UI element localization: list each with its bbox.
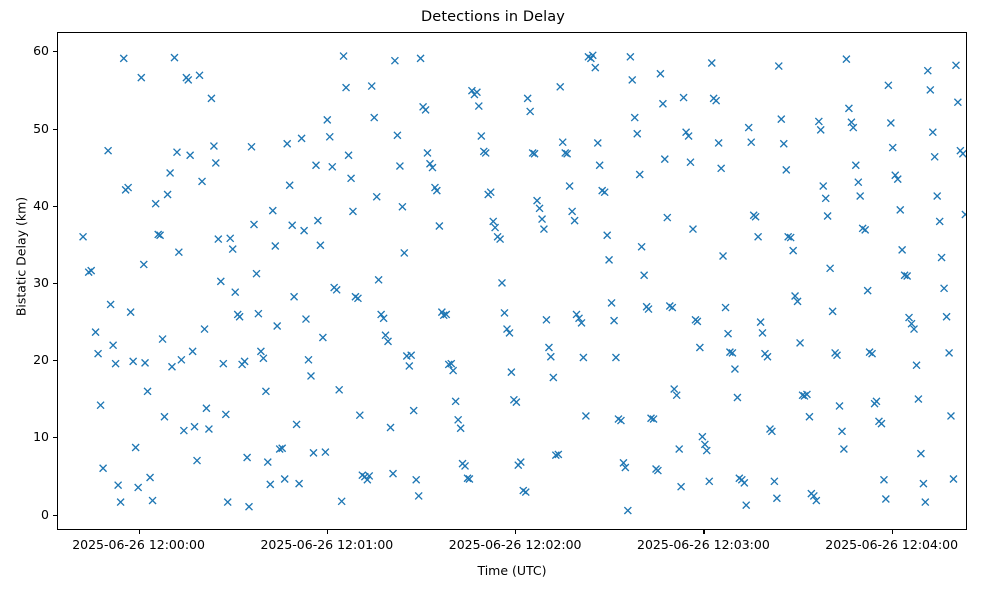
scatter-point — [274, 323, 281, 330]
scatter-point — [608, 299, 615, 306]
y-tick-mark — [53, 437, 57, 438]
scatter-point — [187, 152, 194, 159]
scatter-point — [606, 256, 613, 263]
scatter-point — [878, 420, 885, 427]
scatter-point — [125, 184, 132, 191]
scatter-point — [229, 246, 236, 253]
scatter-point — [569, 208, 576, 215]
scatter-point — [426, 160, 433, 167]
scatter-point — [272, 243, 279, 250]
scatter-point — [201, 326, 208, 333]
scatter-point — [696, 344, 703, 351]
scatter-point — [540, 226, 547, 233]
scatter-point — [922, 499, 929, 506]
scatter-point — [217, 278, 224, 285]
scatter-point — [80, 233, 87, 240]
scatter-point — [678, 483, 685, 490]
scatter-point — [348, 175, 355, 182]
scatter-point — [317, 242, 324, 249]
scatter-point — [255, 310, 262, 317]
scatter-point — [301, 227, 308, 234]
scatter-point — [931, 153, 938, 160]
scatter-point — [269, 207, 276, 214]
scatter-point — [492, 224, 499, 231]
scatter-point — [296, 480, 303, 487]
scatter-point — [314, 217, 321, 224]
scatter-point — [329, 163, 336, 170]
y-axis-label: Bistatic Delay (km) — [14, 137, 29, 377]
scatter-point — [413, 476, 420, 483]
scatter-point — [199, 178, 206, 185]
scatter-point — [473, 89, 480, 96]
scatter-point — [722, 304, 729, 311]
scatter-point — [168, 363, 175, 370]
scatter-point — [699, 433, 706, 440]
scatter-point — [248, 143, 255, 150]
scatter-point — [253, 270, 260, 277]
scatter-point — [694, 318, 701, 325]
scatter-point — [855, 179, 862, 186]
scatter-point — [262, 388, 269, 395]
scatter-point — [112, 360, 119, 367]
scatter-point — [745, 124, 752, 131]
scatter-point — [298, 135, 305, 142]
scatter-point — [954, 99, 961, 106]
scatter-point — [178, 356, 185, 363]
scatter-point — [424, 149, 431, 156]
scatter-point — [664, 214, 671, 221]
scatter-point — [241, 358, 248, 365]
scatter-point — [773, 495, 780, 502]
scatter-point — [513, 399, 520, 406]
scatter-point — [289, 222, 296, 229]
y-tick-mark — [53, 206, 57, 207]
scatter-point — [251, 221, 258, 228]
scatter-point — [899, 246, 906, 253]
scatter-point — [212, 159, 219, 166]
scatter-point — [934, 193, 941, 200]
scatter-point — [524, 95, 531, 102]
scatter-point — [676, 446, 683, 453]
scatter-point — [685, 133, 692, 140]
scatter-point — [889, 144, 896, 151]
scatter-point — [817, 126, 824, 133]
y-tick-mark — [53, 129, 57, 130]
scatter-point — [394, 132, 401, 139]
scatter-point — [947, 412, 954, 419]
y-tick-label: 30 — [33, 274, 49, 292]
y-axis-ticks: 0102030405060 — [0, 32, 57, 530]
scatter-point — [764, 353, 771, 360]
scatter-point — [534, 197, 541, 204]
scatter-point — [180, 427, 187, 434]
scatter-point — [604, 232, 611, 239]
scatter-point — [244, 454, 251, 461]
page-title: Detections in Delay — [0, 9, 986, 25]
scatter-point — [731, 366, 738, 373]
scatter-point — [840, 446, 847, 453]
scatter-point — [894, 176, 901, 183]
x-tick-label: 2025-06-26 12:00:00 — [72, 536, 205, 554]
scatter-point — [222, 411, 229, 418]
scatter-point — [517, 459, 524, 466]
scatter-point — [345, 152, 352, 159]
scatter-point — [127, 309, 134, 316]
scatter-point — [147, 474, 154, 481]
x-tick-label: 2025-06-26 12:01:00 — [260, 536, 393, 554]
scatter-point — [340, 53, 347, 60]
scatter-point — [281, 476, 288, 483]
y-tick-label: 50 — [33, 120, 49, 138]
x-tick-mark — [327, 530, 328, 534]
scatter-point — [173, 149, 180, 156]
scatter-point — [836, 402, 843, 409]
scatter-point — [196, 72, 203, 79]
scatter-point — [286, 182, 293, 189]
scatter-point — [191, 423, 198, 430]
matplotlib-figure: Detections in Delay 0102030405060 Bistat… — [0, 0, 986, 590]
scatter-point — [452, 398, 459, 405]
scatter-point — [803, 391, 810, 398]
scatter-point — [324, 116, 331, 123]
scatter-point — [771, 478, 778, 485]
scatter-point — [307, 372, 314, 379]
scatter-point — [433, 187, 440, 194]
scatter-point — [882, 496, 889, 503]
scatter-point — [547, 353, 554, 360]
x-tick-label: 2025-06-26 12:04:00 — [825, 536, 958, 554]
scatter-point — [897, 206, 904, 213]
scatter-point — [627, 53, 634, 60]
scatter-point — [748, 139, 755, 146]
scatter-point — [592, 64, 599, 71]
scatter-point — [671, 386, 678, 393]
scatter-point — [310, 449, 317, 456]
y-tick-mark — [53, 515, 57, 516]
scatter-point — [95, 350, 102, 357]
scatter-point — [673, 392, 680, 399]
scatter-point — [293, 421, 300, 428]
scatter-point — [571, 217, 578, 224]
scatter-point — [601, 189, 608, 196]
scatter-point — [236, 313, 243, 320]
scatter-point — [110, 342, 117, 349]
scatter-point — [319, 334, 326, 341]
scatter-point — [862, 226, 869, 233]
scatter-point — [755, 233, 762, 240]
scatter-point — [545, 344, 552, 351]
scatter-point — [291, 293, 298, 300]
x-tick-label: 2025-06-26 12:02:00 — [449, 536, 582, 554]
scatter-point — [302, 316, 309, 323]
scatter-point — [105, 147, 112, 154]
scatter-point — [132, 444, 139, 451]
scatter-point — [815, 118, 822, 125]
scatter-point — [410, 407, 417, 414]
scatter-point — [725, 330, 732, 337]
scatter-point — [559, 139, 566, 146]
scatter-point — [338, 498, 345, 505]
scatter-point — [508, 369, 515, 376]
scatter-point — [917, 450, 924, 457]
scatter-point — [734, 394, 741, 401]
scatter-point — [326, 133, 333, 140]
scatter-point — [929, 129, 936, 136]
scatter-point — [140, 261, 147, 268]
scatter-point — [689, 226, 696, 233]
scatter-point — [354, 295, 361, 302]
scatter-point — [887, 119, 894, 126]
scatter-point — [333, 286, 340, 293]
scatter-point — [406, 362, 413, 369]
scatter-series — [58, 33, 966, 529]
scatter-point — [659, 100, 666, 107]
plot-area — [57, 32, 967, 530]
scatter-point — [645, 306, 652, 313]
scatter-point — [941, 285, 948, 292]
scatter-point — [390, 470, 397, 477]
scatter-point — [387, 424, 394, 431]
scatter-point — [135, 484, 142, 491]
scatter-point — [257, 348, 264, 355]
scatter-point — [264, 459, 271, 466]
y-tick-mark — [53, 360, 57, 361]
scatter-point — [527, 108, 534, 115]
scatter-point — [661, 156, 668, 163]
scatter-point — [159, 336, 166, 343]
scatter-point — [752, 213, 759, 220]
scatter-point — [468, 87, 475, 94]
scatter-point — [144, 388, 151, 395]
y-tick-label: 60 — [33, 42, 49, 60]
scatter-point — [757, 319, 764, 326]
scatter-point — [543, 316, 550, 323]
scatter-point — [343, 84, 350, 91]
scatter-point — [368, 83, 375, 90]
scatter-point — [839, 428, 846, 435]
x-axis-ticks: 2025-06-26 12:00:002025-06-26 12:01:0020… — [57, 530, 967, 560]
scatter-point — [634, 130, 641, 137]
scatter-point — [120, 55, 127, 62]
scatter-point — [834, 352, 841, 359]
scatter-point — [657, 70, 664, 77]
scatter-point — [822, 195, 829, 202]
scatter-point — [185, 76, 192, 83]
scatter-point — [373, 193, 380, 200]
scatter-point — [790, 247, 797, 254]
scatter-point — [522, 489, 529, 496]
scatter-point — [927, 86, 934, 93]
scatter-point — [490, 218, 497, 225]
scatter-point — [380, 315, 387, 322]
scatter-point — [205, 426, 212, 433]
scatter-point — [943, 313, 950, 320]
scatter-point — [720, 253, 727, 260]
scatter-point — [501, 309, 508, 316]
scatter-point — [718, 165, 725, 172]
x-axis-label: Time (UTC) — [57, 563, 967, 578]
scatter-point — [450, 367, 457, 374]
scatter-point — [408, 352, 415, 359]
scatter-point — [829, 308, 836, 315]
scatter-point — [498, 279, 505, 286]
scatter-point — [396, 163, 403, 170]
scatter-point — [680, 94, 687, 101]
scatter-point — [267, 481, 274, 488]
scatter-point — [852, 162, 859, 169]
scatter-point — [845, 105, 852, 112]
scatter-point — [669, 304, 676, 311]
scatter-point — [703, 447, 710, 454]
scatter-point — [857, 193, 864, 200]
scatter-point — [375, 276, 382, 283]
scatter-point — [715, 139, 722, 146]
scatter-point — [959, 150, 966, 157]
scatter-point — [783, 166, 790, 173]
scatter-point — [457, 425, 464, 432]
scatter-point — [88, 267, 95, 274]
scatter-point — [399, 203, 406, 210]
scatter-point — [950, 476, 957, 483]
scatter-point — [149, 497, 156, 504]
scatter-point — [224, 499, 231, 506]
scatter-point — [487, 189, 494, 196]
scatter-point — [820, 183, 827, 190]
scatter-point — [482, 149, 489, 156]
scatter-point — [797, 339, 804, 346]
scatter-point — [497, 236, 504, 243]
x-tick-mark — [703, 530, 704, 534]
scatter-point — [617, 417, 624, 424]
scatter-point — [171, 54, 178, 61]
scatter-point — [220, 360, 227, 367]
x-tick-mark — [139, 530, 140, 534]
scatter-point — [142, 359, 149, 366]
scatter-point — [952, 62, 959, 69]
scatter-point — [654, 467, 661, 474]
scatter-point — [624, 507, 631, 514]
scatter-point — [638, 243, 645, 250]
scatter-point — [892, 172, 899, 179]
scatter-point — [227, 235, 234, 242]
scatter-point — [557, 83, 564, 90]
scatter-point — [631, 114, 638, 121]
scatter-point — [706, 478, 713, 485]
scatter-point — [759, 329, 766, 336]
y-tick-label: 20 — [33, 351, 49, 369]
scatter-point — [284, 140, 291, 147]
scatter-point — [806, 413, 813, 420]
scatter-point — [946, 349, 953, 356]
scatter-point — [850, 124, 857, 131]
scatter-point — [713, 97, 720, 104]
scatter-point — [920, 480, 927, 487]
scatter-point — [962, 211, 966, 218]
scatter-point — [629, 76, 636, 83]
scatter-point — [415, 492, 422, 499]
scatter-point — [936, 218, 943, 225]
scatter-point — [422, 106, 429, 113]
scatter-point — [503, 326, 510, 333]
scatter-point — [203, 405, 210, 412]
scatter-point — [349, 208, 356, 215]
scatter-point — [869, 350, 876, 357]
scatter-point — [167, 169, 174, 176]
scatter-point — [100, 465, 107, 472]
scatter-point — [336, 386, 343, 393]
scatter-point — [436, 223, 443, 230]
scatter-point — [401, 249, 408, 256]
y-tick-mark — [53, 283, 57, 284]
scatter-point — [536, 205, 543, 212]
scatter-point — [313, 162, 320, 169]
scatter-point — [864, 287, 871, 294]
scatter-point — [641, 272, 648, 279]
scatter-point — [612, 354, 619, 361]
scatter-point — [913, 362, 920, 369]
scatter-point — [462, 462, 469, 469]
scatter-point — [775, 63, 782, 70]
scatter-point — [596, 162, 603, 169]
scatter-point — [683, 129, 690, 136]
scatter-point — [885, 82, 892, 89]
scatter-point — [873, 398, 880, 405]
scatter-point — [580, 354, 587, 361]
scatter-point — [161, 413, 168, 420]
scatter-point — [391, 57, 398, 64]
scatter-point — [417, 55, 424, 62]
scatter-point — [378, 311, 385, 318]
scatter-point — [215, 236, 222, 243]
scatter-point — [429, 164, 436, 171]
scatter-point — [107, 301, 114, 308]
scatter-point — [566, 183, 573, 190]
scatter-point — [582, 412, 589, 419]
scatter-point — [506, 329, 513, 336]
y-tick-label: 10 — [33, 428, 49, 446]
scatter-point — [573, 311, 580, 318]
scatter-point — [768, 428, 775, 435]
scatter-point — [475, 103, 482, 110]
scatter-point — [636, 171, 643, 178]
scatter-point — [138, 74, 145, 81]
scatter-point — [778, 116, 785, 123]
scatter-point — [827, 265, 834, 272]
scatter-point — [708, 60, 715, 67]
scatter-point — [938, 254, 945, 261]
scatter-point — [824, 213, 831, 220]
scatter-point — [305, 356, 312, 363]
scatter-point — [92, 329, 99, 336]
scatter-point — [780, 140, 787, 147]
scatter-point — [164, 191, 171, 198]
scatter-point — [924, 67, 931, 74]
scatter-point — [743, 502, 750, 509]
scatter-point — [130, 358, 137, 365]
scatter-point — [455, 416, 462, 423]
y-tick-label: 40 — [33, 197, 49, 215]
scatter-point — [539, 216, 546, 223]
scatter-point — [848, 119, 855, 126]
scatter-point — [260, 355, 267, 362]
scatter-point — [478, 133, 485, 140]
x-tick-label: 2025-06-26 12:03:00 — [637, 536, 770, 554]
scatter-point — [701, 441, 708, 448]
scatter-point — [594, 139, 601, 146]
x-tick-mark — [892, 530, 893, 534]
scatter-point — [611, 317, 618, 324]
scatter-point — [880, 476, 887, 483]
